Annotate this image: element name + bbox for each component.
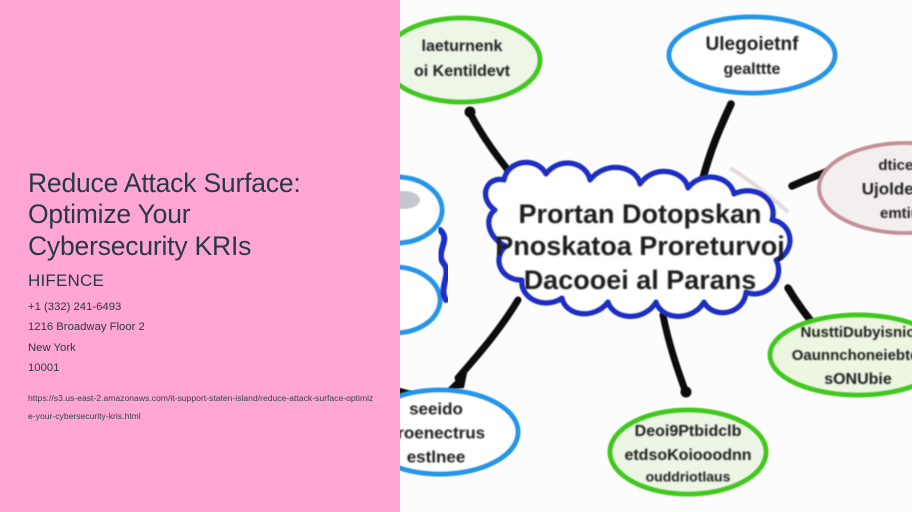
central-node-line2: Pnoskatoa Proreturvoj [495, 231, 785, 261]
branch-node-bottom-left[interactable]: seeido nroenectrus estlnee [400, 390, 518, 474]
branch-mid-right-line1: NusttiDubyisnio [801, 324, 912, 341]
branch-node-top-right[interactable]: Ulegoietnf gealttte [669, 17, 835, 93]
branch-top-left-line1: laeturnenk [422, 38, 503, 55]
mindmap-image: Prortan Dotopskan Pnoskatoa Proreturvoj … [400, 0, 912, 512]
branch-node-top-left[interactable]: laeturnenk oi Kentildevt [400, 18, 540, 102]
source-url-link[interactable]: https://s3.us-east-2.amazonaws.com/it-su… [28, 390, 376, 425]
branch-right-edge-line2: Ujoldegie [862, 179, 912, 198]
branch-right-edge-line1: dticee [878, 157, 912, 174]
branch-bottom-left-line1: seeido [409, 399, 463, 418]
branch-top-right-line2: gealttte [724, 61, 781, 78]
mindmap-svg: Prortan Dotopskan Pnoskatoa Proreturvoj … [400, 0, 912, 512]
address-city: New York [28, 338, 378, 359]
branch-bottom-center-line1: Deoi9Ptbidclb [635, 423, 742, 440]
central-node-line3: Dacooei al Parans [524, 265, 757, 295]
branch-top-right-line1: Ulegoietnf [706, 34, 800, 55]
slide-canvas: Reduce Attack Surface: Optimize Your Cyb… [0, 0, 912, 512]
branch-mid-right-line2: Oaunnchoneiebter [792, 347, 912, 364]
left-panel-content: Reduce Attack Surface: Optimize Your Cyb… [28, 168, 378, 425]
address-zip: 10001 [28, 358, 378, 379]
page-title: Reduce Attack Surface: Optimize Your Cyb… [28, 168, 378, 262]
branch-top-left-line2: oi Kentildevt [414, 63, 511, 80]
branch-top-left-ellipse [400, 18, 540, 102]
branch-node-mid-right[interactable]: NusttiDubyisnio Oaunnchoneiebter sONUbie [770, 315, 912, 395]
left-info-panel: Reduce Attack Surface: Optimize Your Cyb… [0, 0, 400, 512]
branch-mid-right-line3: sONUbie [824, 371, 892, 388]
branch-node-bottom-center[interactable]: Deoi9Ptbidclb etdsoKoiooodnn ouddriotlau… [610, 410, 766, 494]
branch-bottom-center-line3: ouddriotlaus [646, 469, 731, 485]
phone-number: +1 (332) 241-6493 [28, 297, 378, 318]
central-node-text: Prortan Dotopskan Pnoskatoa Proreturvoj … [495, 199, 785, 295]
branch-bottom-left-line2: nroenectrus [400, 423, 485, 442]
branch-bottom-center-line2: etdsoKoiooodnn [624, 447, 751, 464]
brand-name: HIFENCE [28, 271, 378, 291]
address-street: 1216 Broadway Floor 2 [28, 317, 378, 338]
branch-right-edge-line3: emtiu [880, 205, 912, 222]
branch-bottom-left-line3: estlnee [407, 447, 466, 466]
central-node-line1: Prortan Dotopskan [518, 199, 761, 229]
